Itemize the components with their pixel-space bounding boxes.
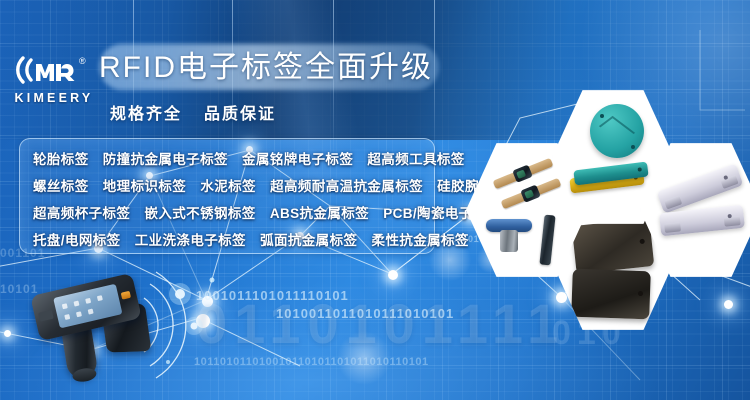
reader-screen[interactable] bbox=[53, 284, 122, 329]
product-item[interactable]: 超高频杯子标签 bbox=[33, 200, 130, 227]
mushroom-anti-metal-tag bbox=[486, 219, 532, 232]
product-item[interactable]: 水泥标签 bbox=[200, 173, 256, 200]
product-item[interactable]: ABS抗金属标签 bbox=[270, 200, 369, 227]
product-item[interactable]: 防撞抗金属电子标签 bbox=[103, 146, 228, 173]
reader-side-button[interactable] bbox=[38, 310, 54, 322]
product-item[interactable]: 地理标识标签 bbox=[103, 173, 186, 200]
page-title: RFID电子标签全面升级 bbox=[99, 46, 444, 90]
logo-wordmark: KIMEERY bbox=[14, 91, 94, 105]
product-row-4: 托盘/电网标签 工业洗涤电子标签 弧面抗金属标签 柔性抗金属标签 bbox=[28, 227, 426, 254]
product-item[interactable]: 工业洗涤电子标签 bbox=[135, 227, 246, 254]
product-item[interactable]: 柔性抗金属标签 bbox=[372, 227, 469, 254]
abs-anti-metal-tag bbox=[572, 218, 655, 274]
product-item[interactable]: 螺丝标签 bbox=[33, 173, 89, 200]
subtitle: 规格齐全品质保证 bbox=[110, 100, 276, 124]
product-item[interactable]: 轮胎标签 bbox=[33, 146, 89, 173]
abs-anti-metal-tag bbox=[571, 269, 651, 320]
rfid-banner: 0110101111 1001011101011110101 101001101… bbox=[0, 0, 750, 400]
network-node bbox=[4, 330, 11, 337]
reader-led-indicator bbox=[121, 291, 131, 300]
binary-large-text: 0110101111 bbox=[196, 296, 750, 352]
product-item[interactable]: 超高频工具标签 bbox=[367, 146, 464, 173]
product-row-1: 轮胎标签 防撞抗金属电子标签 金属铭牌电子标签 超高频工具标签 bbox=[28, 146, 426, 173]
product-row-2: 螺丝标签 地理标识标签 水泥标签 超高频耐高温抗金属标签 硅胶腕带 bbox=[28, 173, 426, 200]
product-item[interactable]: 嵌入式不锈钢标签 bbox=[144, 200, 255, 227]
product-item[interactable]: 超高频耐高温抗金属标签 bbox=[270, 173, 423, 200]
product-item[interactable]: 托盘/电网标签 bbox=[33, 227, 121, 254]
product-item[interactable]: 弧面抗金属标签 bbox=[260, 227, 357, 254]
kimeery-logo[interactable]: ® KIMEERY bbox=[14, 52, 94, 105]
kmr-wave-icon: ® bbox=[14, 52, 94, 88]
binary-line-2: 1010011011010111010101 bbox=[276, 306, 454, 321]
stainless-steel-rod-tag bbox=[539, 215, 555, 266]
product-row-3: 超高频杯子标签 嵌入式不锈钢标签 ABS抗金属标签 PCB/陶瓷电子标签 bbox=[28, 200, 426, 227]
network-node bbox=[388, 270, 398, 280]
handheld-rfid-reader[interactable] bbox=[26, 272, 176, 392]
subtitle-left: 规格齐全 bbox=[110, 106, 182, 123]
title-container: RFID电子标签全面升级 bbox=[99, 46, 444, 90]
product-list-panel: 轮胎标签 防撞抗金属电子标签 金属铭牌电子标签 超高频工具标签 螺丝标签 地理标… bbox=[19, 138, 435, 254]
uhf-disc-tag bbox=[590, 104, 644, 158]
product-item[interactable]: 金属铭牌电子标签 bbox=[242, 146, 353, 173]
svg-text:®: ® bbox=[79, 56, 86, 66]
subtitle-right: 品质保证 bbox=[204, 106, 276, 123]
